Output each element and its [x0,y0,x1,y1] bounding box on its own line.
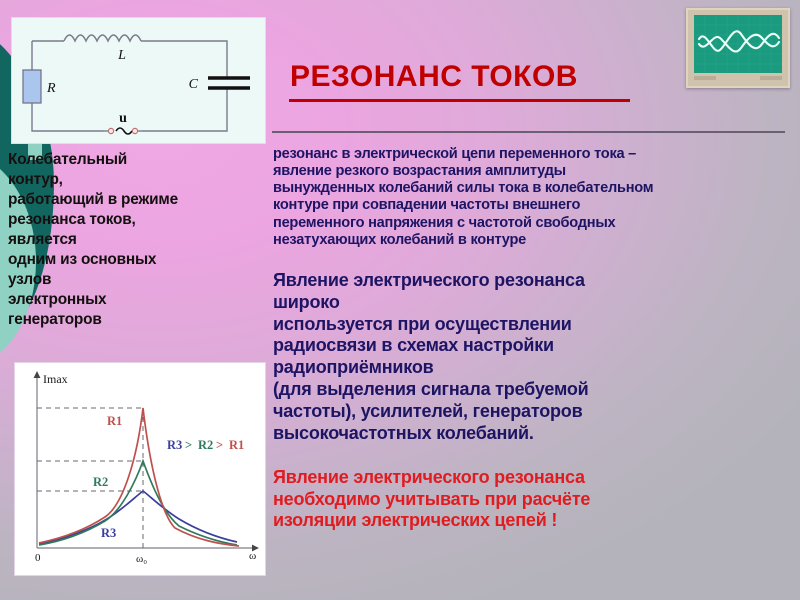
paragraph-warning: Явление электрического резонанса необход… [273,467,789,533]
annotation-part: R3 [167,438,182,452]
caption-line: генераторов [8,310,266,330]
resistor-symbol [23,70,41,103]
annotation-part: R2 [198,438,213,452]
usage-line: используется при осуществлении [273,314,789,336]
chart-xlabel: ω [249,550,256,562]
circuit-label-inductor: L [117,48,126,63]
annotation-part: > [185,438,192,452]
definition-line: резонанс в электрической цепи переменног… [273,146,789,163]
body-copy: резонанс в электрической цепи переменног… [273,146,789,532]
caption-line: работающий в режиме [8,190,266,210]
chart-ylabel: Imax [43,372,68,386]
warning-line: Явление электрического резонанса [273,467,789,489]
caption-line: одним из основных [8,250,266,270]
resonance-curves-chart: Imax 0 ω₀ ω R1 R2 R3 R3 > R2 > R1 [14,362,266,576]
series-label-r2: R2 [93,475,108,489]
header-divider [272,131,785,133]
series-label-r1: R1 [107,414,122,428]
series-label-r3: R3 [101,526,116,540]
curve-r1 [39,408,239,546]
warning-line: изоляции электрических цепей ! [273,510,789,532]
definition-line: незатухающих колебаний в контуре [273,232,789,249]
usage-line: радиосвязи в схемах настройки [273,335,789,357]
usage-line: радиоприёмников [273,357,789,379]
ac-source-symbol [116,128,132,134]
capacitor-symbol [208,78,250,88]
chart-xtick-omega0: ω₀ [136,553,147,565]
chart-xtick-zero: 0 [35,552,41,564]
circuit-label-capacitor: C [189,77,199,92]
definition-line: контуре при совпадении частоты внешнего [273,197,789,214]
annotation-part: > [216,438,223,452]
y-axis-arrow [34,371,41,378]
caption-line: электронных [8,290,266,310]
lc-circuit-diagram: L R C u [11,17,266,144]
left-caption: Колебательный контур, работающий в режим… [8,150,266,330]
curve-r3 [39,491,237,544]
caption-line: является [8,230,266,250]
definition-line: переменного напряжения с частотой свобод… [273,215,789,232]
usage-line: высокочастотных колебаний. [273,423,789,445]
oscilloscope-image [686,8,790,88]
paragraph-definition: резонанс в электрической цепи переменног… [273,146,789,249]
slide-canvas: L R C u Колебательный контур, работающий… [0,0,800,600]
usage-line: частоты), усилителей, генераторов [273,401,789,423]
annotation-part: R1 [229,438,244,452]
definition-line: явление резкого возрастания амплитуды [273,163,789,180]
title-underline [289,99,630,102]
circuit-label-resistor: R [46,81,56,96]
definition-line: вынужденных колебаний силы тока в колеба… [273,180,789,197]
usage-line: (для выделения сигнала требуемой [273,379,789,401]
caption-line: контур, [8,170,266,190]
usage-line: Явление электрического резонанса [273,270,789,292]
warning-line: необходимо учитывать при расчёте [273,489,789,511]
usage-line: широко [273,292,789,314]
circuit-label-source: u [119,111,127,126]
page-title: РЕЗОНАНС ТОКОВ [290,60,578,94]
caption-line: узлов [8,270,266,290]
caption-line: резонанса токов, [8,210,266,230]
caption-line: Колебательный [8,150,266,170]
chart-annotation: R3 > R2 > R1 [167,438,244,452]
paragraph-usage: Явление электрического резонанса широко … [273,270,789,445]
